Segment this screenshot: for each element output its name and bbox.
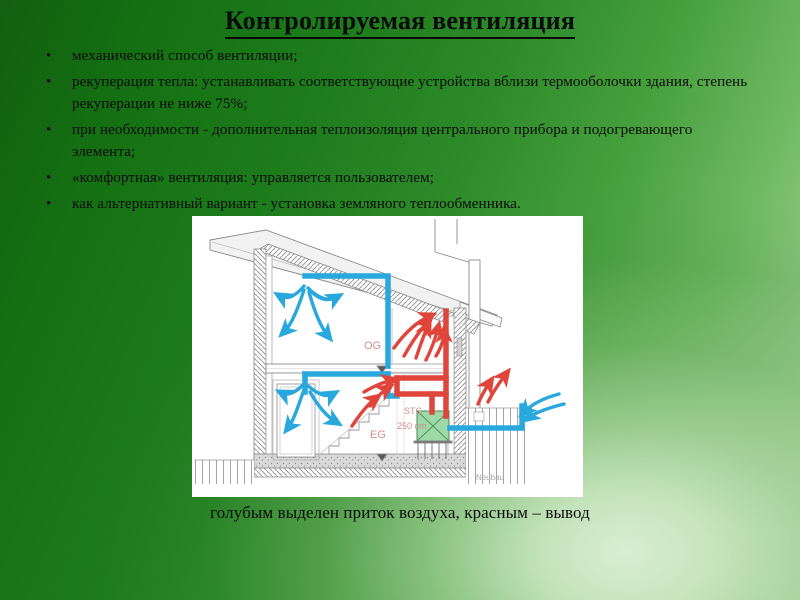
label-eg: EG — [370, 429, 386, 441]
list-item-label: как альтернативный вариант - установка з… — [72, 195, 521, 212]
list-item: • как альтернативный вариант - установка… — [38, 193, 750, 215]
slide-canvas: Контролируемая вентиляция • механический… — [0, 0, 800, 600]
list-item-label: при необходимости - дополнительная тепло… — [72, 121, 692, 160]
list-item: • механический способ вентиляции; — [38, 45, 750, 67]
page-title: Контролируемая вентиляция — [225, 6, 575, 39]
list-item: • «комфортная» вентиляция: управляется п… — [38, 167, 750, 189]
title-area: Контролируемая вентиляция — [0, 6, 800, 39]
label-height: 250 cm — [397, 421, 427, 431]
list-item-label: «комфортная» вентиляция: управляется пол… — [72, 169, 434, 186]
bullet-list: • механический способ вентиляции; • реку… — [38, 45, 750, 219]
bullet-marker-icon: • — [46, 193, 51, 215]
list-item-label: рекуперация тепла: устанавливать соответ… — [72, 73, 747, 112]
list-item: • рекуперация тепла: устанавливать соотв… — [38, 71, 750, 115]
label-stg: STG — [404, 406, 423, 416]
bullet-marker-icon: • — [46, 71, 51, 93]
house-section-diagram: OG EG STG 250 cm Neubau — [192, 216, 583, 497]
list-item-label: механический способ вентиляции; — [72, 47, 298, 64]
bullet-marker-icon: • — [46, 167, 51, 189]
bullet-marker-icon: • — [46, 119, 51, 141]
diagram-caption: голубым выделен приток воздуха, красным … — [0, 503, 800, 523]
label-og: OG — [364, 340, 381, 352]
diagram-caption-label: голубым выделен приток воздуха, красным … — [210, 503, 590, 523]
label-neubau: Neubau — [476, 473, 504, 482]
bullet-marker-icon: • — [46, 45, 51, 67]
list-item: • при необходимости - дополнительная теп… — [38, 119, 750, 163]
ventilation-diagram-image: OG EG STG 250 cm Neubau — [192, 216, 583, 497]
